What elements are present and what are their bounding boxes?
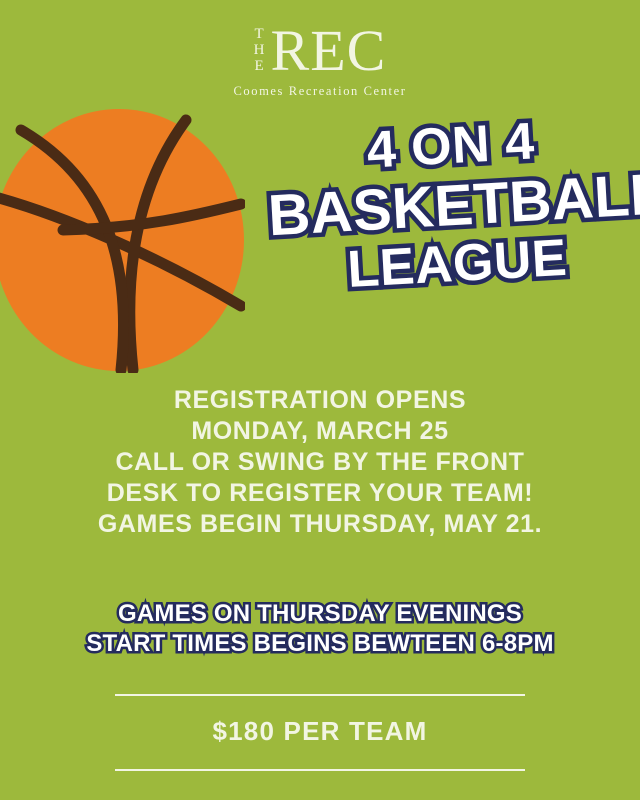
- body-line-4: DESK TO REGISTER YOUR TEAM!: [0, 478, 640, 509]
- logo-the-stack: T H E: [254, 26, 266, 76]
- divider-bottom: [115, 769, 525, 771]
- body-line-5: GAMES BEGIN THURSDAY, MAY 21.: [0, 509, 640, 540]
- schedule-line-2: START TIMES BEGINS BEWTEEN 6-8PM: [0, 629, 640, 659]
- basketball-icon: [0, 108, 245, 373]
- logo-wordmark: REC: [271, 22, 387, 80]
- body-line-1: REGISTRATION OPENS: [0, 385, 640, 416]
- flyer-poster: T H E REC Coomes Recreation Center 4 ON …: [0, 0, 640, 800]
- price-label: $180 PER TEAM: [115, 696, 525, 769]
- body-line-2: MONDAY, MARCH 25: [0, 416, 640, 447]
- registration-details: REGISTRATION OPENS MONDAY, MARCH 25 CALL…: [0, 385, 640, 540]
- body-line-3: CALL OR SWING BY THE FRONT: [0, 447, 640, 478]
- price-block: $180 PER TEAM: [115, 694, 525, 771]
- logo-the-letter-t: T: [255, 26, 265, 42]
- logo-the-letter-h: H: [254, 42, 266, 58]
- schedule-callout: GAMES ON THURSDAY EVENINGS START TIMES B…: [0, 599, 640, 659]
- schedule-line-1: GAMES ON THURSDAY EVENINGS: [0, 599, 640, 629]
- logo-tagline: Coomes Recreation Center: [0, 84, 640, 99]
- rec-logo: T H E REC Coomes Recreation Center: [0, 22, 640, 99]
- logo-mark: T H E REC: [254, 22, 387, 80]
- headline: 4 ON 4 BASKETBALL LEAGUE: [264, 112, 640, 300]
- logo-the-letter-e: E: [255, 58, 265, 74]
